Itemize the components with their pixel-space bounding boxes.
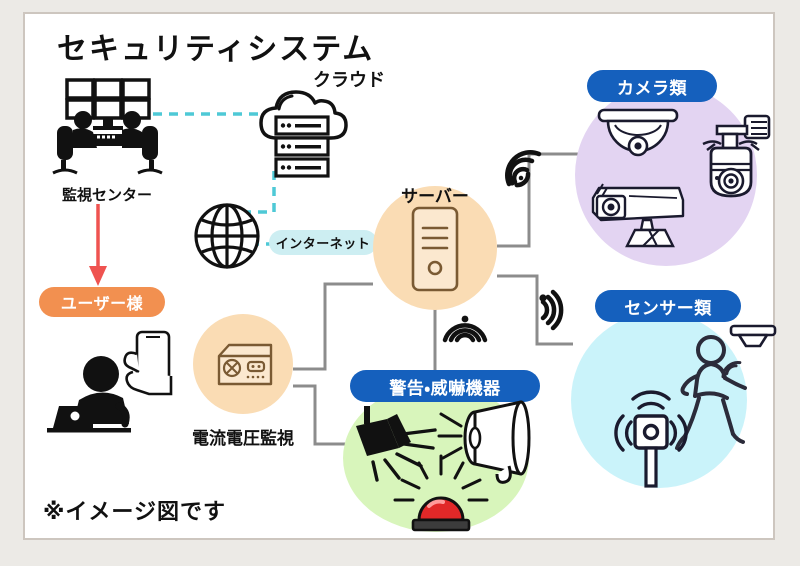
- user-badge-label: ユーザー様: [61, 290, 143, 314]
- sensor-beam-icon: [705, 342, 745, 382]
- cloud-server-icon: [247, 76, 357, 184]
- server-tower-icon: [411, 206, 459, 292]
- power-monitor-label: 電流電圧監視: [173, 424, 313, 449]
- user-badge[interactable]: ユーザー様: [39, 287, 165, 317]
- node-server[interactable]: [411, 206, 459, 292]
- wifi-signal-camera-icon: [501, 146, 541, 186]
- alarms-badge[interactable]: 警告・威嚇機器: [350, 370, 540, 402]
- link-power-to-server: [293, 284, 373, 369]
- bullet-camera-icon: [587, 172, 697, 250]
- wifi-signal-alarm-icon: [443, 314, 487, 344]
- footnote: ※イメージ図です: [43, 494, 226, 526]
- sensors-badge-label: センサー類: [624, 294, 712, 319]
- node-internet[interactable]: [193, 202, 261, 270]
- monitoring-center-label: 監視センター: [37, 184, 177, 205]
- cameras-badge-label: カメラ類: [617, 74, 687, 99]
- wifi-signal-sensor-icon: [537, 290, 577, 330]
- internet-badge-label: インターネット: [276, 233, 371, 252]
- dome-camera-icon: [595, 106, 681, 166]
- alarms-badge-label: 警告・威嚇機器: [389, 374, 500, 399]
- cameras-badge[interactable]: カメラ類: [587, 70, 717, 102]
- internet-badge[interactable]: インターネット: [269, 230, 377, 255]
- siren-icon: [393, 454, 489, 536]
- sensors-badge[interactable]: センサー類: [595, 290, 741, 322]
- ptz-camera-icon: [697, 112, 773, 204]
- globe-icon: [193, 202, 261, 270]
- node-power-monitor[interactable]: [215, 342, 275, 388]
- server-label: サーバー: [373, 182, 497, 207]
- power-supply-icon: [215, 342, 275, 388]
- cloud-label: クラウド: [313, 66, 385, 92]
- link-center-to-user-arrow: [89, 204, 107, 286]
- diagram-panel: セキュリティシステム: [23, 12, 775, 540]
- node-cloud[interactable]: [247, 76, 357, 184]
- motion-sensor-icon: [591, 372, 711, 492]
- control-room-icon: [37, 76, 177, 186]
- node-monitoring-center[interactable]: 監視センター: [37, 76, 177, 206]
